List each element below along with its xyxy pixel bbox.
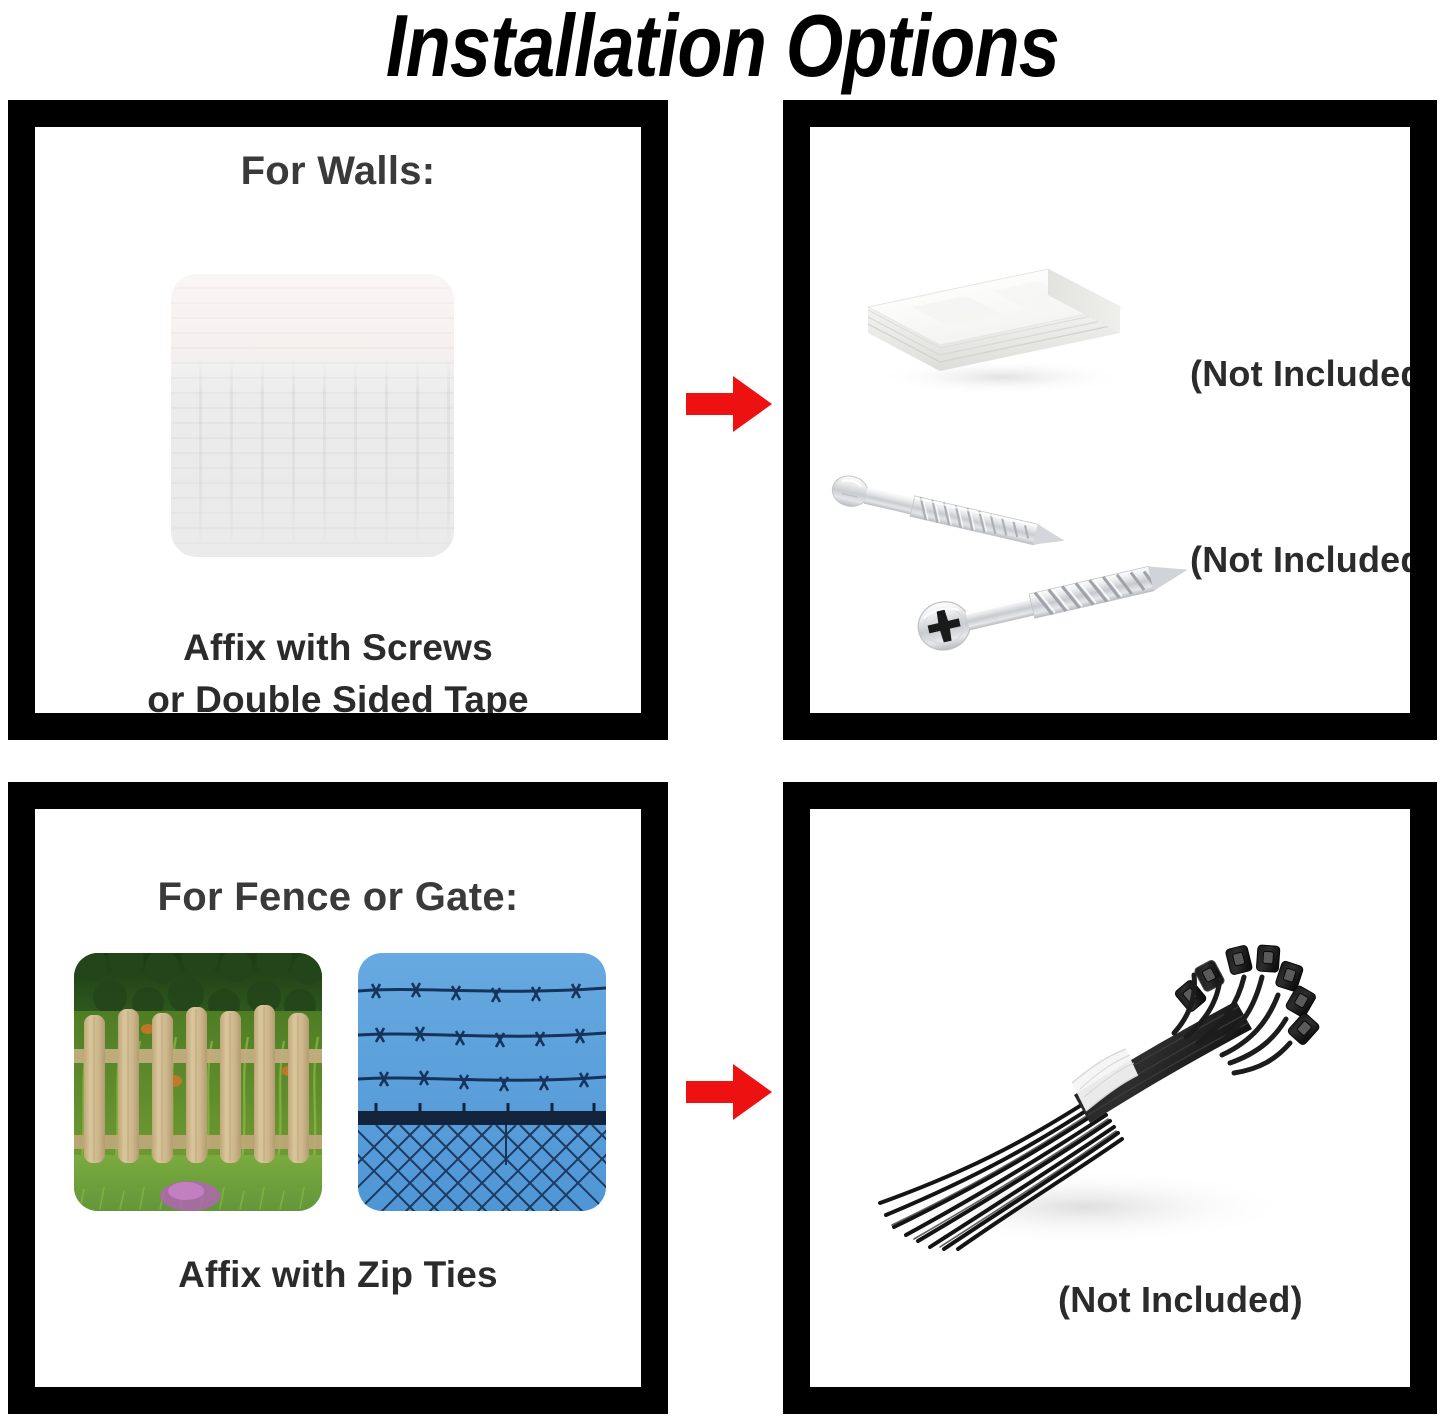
tape-not-included-label: (Not Included) (1190, 353, 1410, 395)
for-walls-heading: For Walls: (35, 149, 641, 194)
white-brick-wall-image (171, 274, 454, 557)
screws-not-included-label: (Not Included) (1190, 539, 1410, 581)
for-fence-or-gate-heading: For Fence or Gate: (35, 875, 641, 920)
panel-wall-hardware: (Not Included) (783, 100, 1437, 740)
panel-for-fence-or-gate-inner: For Fence or Gate: (35, 809, 641, 1387)
page-title: Installation Options (116, 0, 1330, 96)
panel-for-fence-or-gate: For Fence or Gate: (8, 782, 668, 1414)
affix-with-screws-caption-line2: or Double Sided Tape (35, 674, 641, 713)
installation-options-infographic: Installation Options For Walls: Affix wi… (0, 0, 1445, 1422)
wooden-picket-fence-image (74, 953, 322, 1211)
screw-phillips-head-image (902, 525, 1222, 675)
panel-zip-ties: (Not Included) (783, 782, 1437, 1414)
panel-zip-ties-inner: (Not Included) (810, 809, 1410, 1387)
affix-with-screws-caption-line1: Affix with Screws (35, 622, 641, 674)
black-zip-ties-bundle-image (834, 897, 1334, 1297)
affix-with-zip-ties-caption: Affix with Zip Ties (35, 1249, 641, 1301)
zip-ties-not-included-label: (Not Included) (1058, 1279, 1303, 1321)
panel-for-walls: For Walls: Affix with Screws or Double S… (8, 100, 668, 740)
double-sided-tape-stack-image (852, 221, 1142, 401)
panel-wall-hardware-inner: (Not Included) (810, 127, 1410, 713)
red-right-arrow-icon-bottom (686, 1064, 772, 1120)
panel-for-walls-inner: For Walls: Affix with Screws or Double S… (35, 127, 641, 713)
red-right-arrow-icon-top (686, 376, 772, 432)
barbed-wire-chain-link-fence-image (358, 953, 606, 1211)
whitewash-overlay (171, 274, 454, 557)
